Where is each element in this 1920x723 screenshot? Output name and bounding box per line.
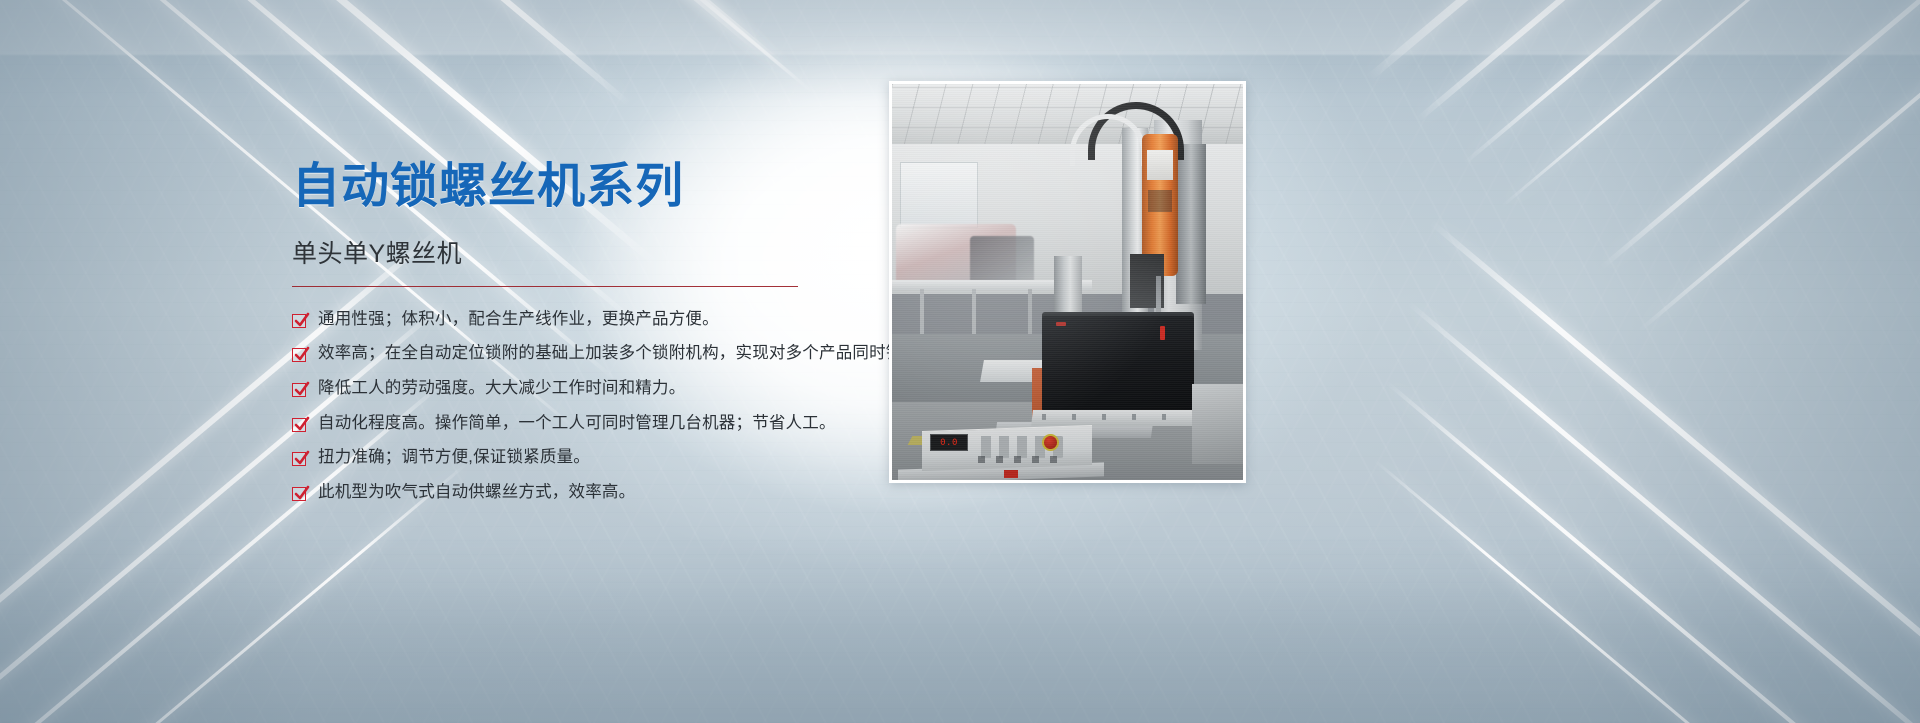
photo-side-device xyxy=(1192,384,1243,464)
photo-screwdriver-label xyxy=(1147,150,1173,180)
check-icon xyxy=(292,418,306,432)
photo-indicator-led xyxy=(1056,322,1066,326)
feature-text: 自动化程度高。操作简单，一个工人可同时管理几台机器；节省人工。 xyxy=(318,413,836,434)
product-banner: 自动锁螺丝机系列 单头单Y螺丝机 通用性强；体积小，配合生产线作业，更换产品方便… xyxy=(0,0,1920,723)
photo-power-switch xyxy=(1004,470,1018,478)
product-photo: 0.0 xyxy=(892,84,1243,480)
page-title: 自动锁螺丝机系列 xyxy=(292,160,892,214)
title-divider xyxy=(292,286,798,287)
product-photo-frame: 0.0 xyxy=(889,81,1246,483)
banner-content: 自动锁螺丝机系列 单头单Y螺丝机 通用性强；体积小，配合生产线作业，更换产品方便… xyxy=(0,0,1920,723)
check-icon xyxy=(292,314,306,328)
photo-background-clutter xyxy=(970,236,1034,284)
photo-screwdriver-grip xyxy=(1148,190,1172,212)
check-icon xyxy=(292,452,306,466)
photo-controller-box xyxy=(1042,316,1194,412)
photo-window xyxy=(900,162,978,228)
list-item: 扭力准确；调节方便,保证锁紧质量。 xyxy=(292,447,892,468)
feature-text: 扭力准确；调节方便,保证锁紧质量。 xyxy=(318,447,590,468)
photo-base-screws xyxy=(1042,414,1202,420)
led-display-value: 0.0 xyxy=(940,438,958,448)
list-item: 此机型为吹气式自动供螺丝方式，效率高。 xyxy=(292,482,892,503)
led-display: 0.0 xyxy=(930,434,968,451)
feature-text: 通用性强；体积小，配合生产线作业，更换产品方便。 xyxy=(318,309,719,330)
feature-text: 降低工人的劳动强度。大大减少工作时间和精力。 xyxy=(318,378,685,399)
product-subtitle: 单头单Y螺丝机 xyxy=(292,234,892,270)
check-icon xyxy=(292,487,306,501)
emergency-stop-button xyxy=(1042,434,1059,451)
photo-linear-block xyxy=(1176,144,1206,304)
feature-text: 此机型为吹气式自动供螺丝方式，效率高。 xyxy=(318,482,635,503)
check-icon xyxy=(292,383,306,397)
photo-indicator-led xyxy=(1160,326,1165,340)
list-item: 降低工人的劳动强度。大大减少工作时间和精力。 xyxy=(292,378,892,399)
list-item: 效率高；在全自动定位锁附的基础上加装多个锁附机构，实现对多个产品同时锁附。 xyxy=(292,343,892,364)
text-column: 自动锁螺丝机系列 单头单Y螺丝机 通用性强；体积小，配合生产线作业，更换产品方便… xyxy=(292,160,892,517)
feature-list: 通用性强；体积小，配合生产线作业，更换产品方便。 效率高；在全自动定位锁附的基础… xyxy=(292,309,892,503)
photo-panel-labels xyxy=(978,456,1068,463)
feature-text: 效率高；在全自动定位锁附的基础上加装多个锁附机构，实现对多个产品同时锁附。 xyxy=(318,343,936,364)
list-item: 通用性强；体积小，配合生产线作业，更换产品方便。 xyxy=(292,309,892,330)
list-item: 自动化程度高。操作简单，一个工人可同时管理几台机器；节省人工。 xyxy=(292,413,892,434)
check-icon xyxy=(292,348,306,362)
